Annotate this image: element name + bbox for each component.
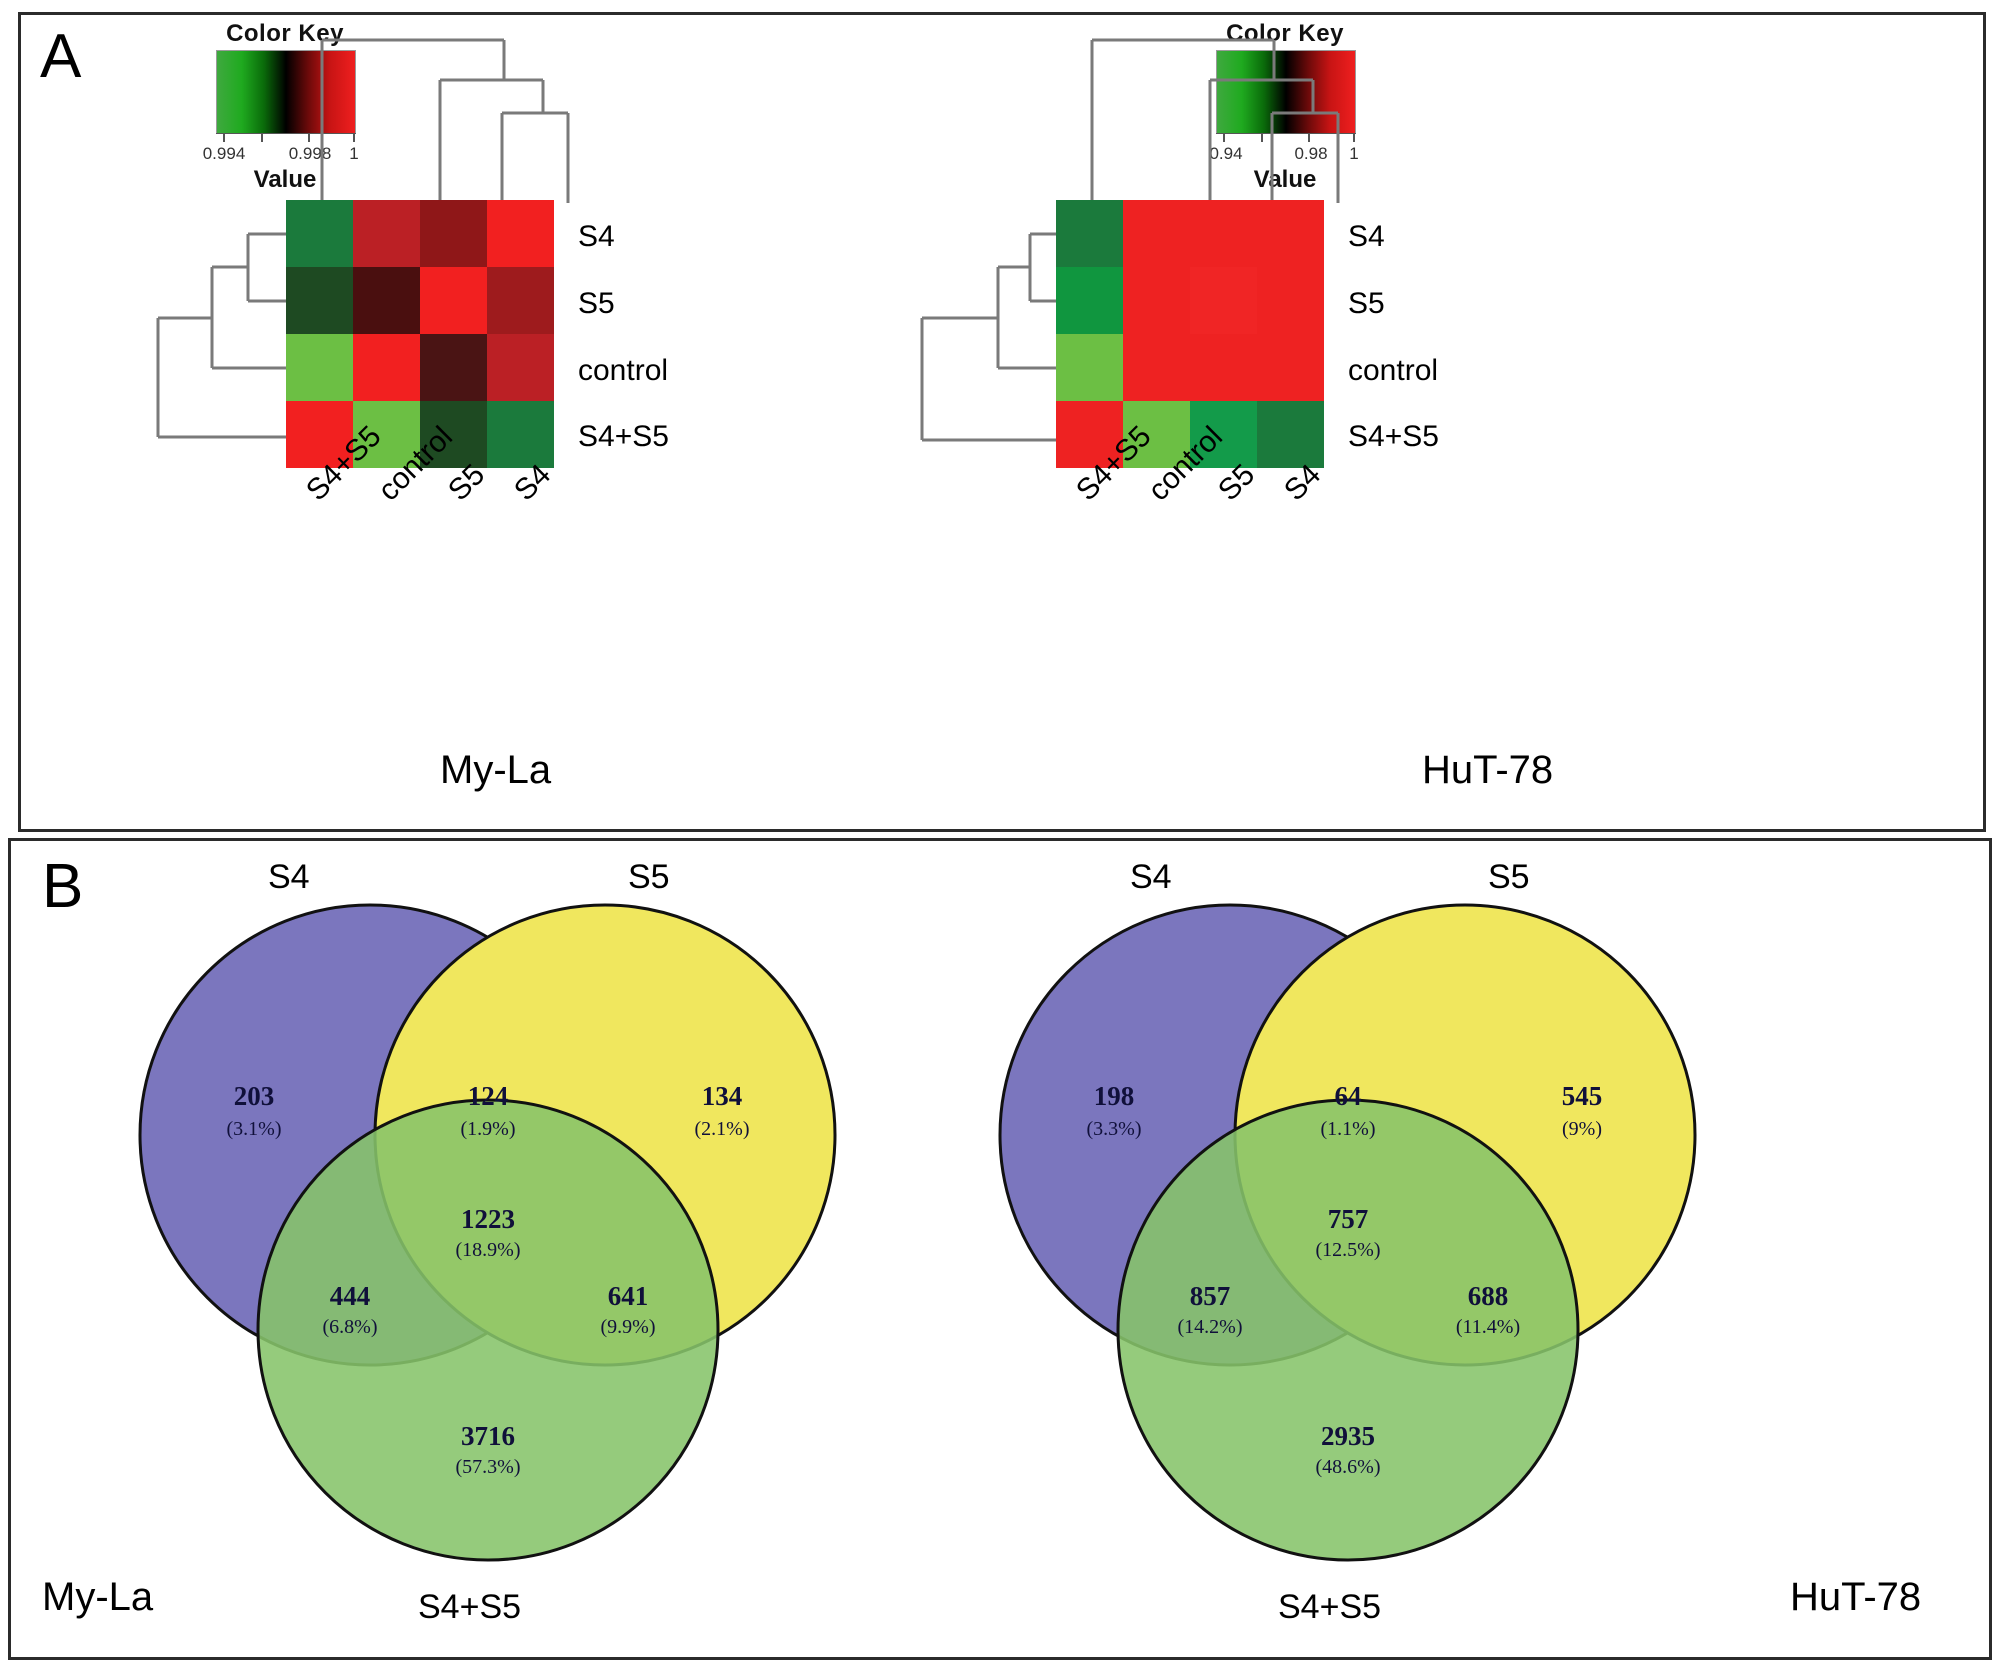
venn-my-la-pct-s4s5-only: (57.3%): [456, 1456, 521, 1478]
heatmap-cell-S5-S4: [1257, 267, 1324, 334]
heatmap-cell-S4-S4: [1257, 200, 1324, 267]
heatmap-row-label-hut-78-0: S4: [1348, 220, 1385, 254]
panel-a-letter: A: [40, 26, 81, 88]
heatmap-row-label-hut-78-3: S4+S5: [1348, 420, 1439, 454]
heatmap-title-my-la: My-La: [440, 748, 551, 793]
venn-hut-78-count-s5-s4s5: 688: [1468, 1281, 1509, 1311]
venn-my-la-pct-s5-s4s5: (9.9%): [601, 1316, 656, 1338]
heatmap-hut-78: [1056, 200, 1324, 468]
venn-hut-78-pct-s4-s4s5: (14.2%): [1178, 1316, 1243, 1338]
heatmap-cell-control-S4+S5: [286, 334, 353, 401]
heatmap-cell-S4+S5-S4: [1257, 401, 1324, 468]
color-key-tick: [223, 133, 225, 142]
heatmap-cell-control-S5: [420, 334, 487, 401]
venn-my-la-count-all-three: 1223: [461, 1204, 515, 1234]
venn-my-la-count-s4s5-only: 3716: [461, 1421, 515, 1451]
heatmap-cell-S4-control: [353, 200, 420, 267]
venn-hut-78-pct-s5-s4s5: (11.4%): [1456, 1316, 1520, 1338]
venn-diagram-my-la: 203 (3.1%) 124 (1.9%) 134 (2.1%) 444 (6.…: [100, 890, 860, 1580]
heatmap-row-label-my-la-2: control: [578, 354, 668, 388]
venn-my-la-pct-s4-s4s5: (6.8%): [323, 1316, 378, 1338]
color-key-tick-label: 1: [1349, 144, 1358, 164]
venn-hut-78-count-s4-s4s5: 857: [1190, 1281, 1231, 1311]
heatmap-cell-S4-S5: [420, 200, 487, 267]
heatmap-cell-S5-S4+S5: [1056, 267, 1123, 334]
venn-my-la-count-s5-s4s5: 641: [608, 1281, 649, 1311]
heatmap-cell-S4-S4+S5: [286, 200, 353, 267]
venn-hut-78-count-s4-only: 198: [1094, 1081, 1135, 1111]
venn-my-la-count-s4-s5: 124: [468, 1081, 509, 1111]
heatmap-row-label-hut-78-1: S5: [1348, 287, 1385, 321]
heatmap-cell-control-S4: [1257, 334, 1324, 401]
panel-b-letter: B: [42, 856, 83, 918]
heatmap-cell-S4-S4+S5: [1056, 200, 1123, 267]
venn-hut-78-pct-all-three: (12.5%): [1316, 1239, 1381, 1261]
heatmap-cell-S4-control: [1123, 200, 1190, 267]
venn-my-la-count-s5-only: 134: [702, 1081, 743, 1111]
venn-my-la-label-s4s5: S4+S5: [418, 1588, 521, 1627]
column-dendrogram-hut-78: [1050, 18, 1350, 203]
heatmap-cell-S5-S4+S5: [286, 267, 353, 334]
venn-hut-78-count-s5-only: 545: [1562, 1081, 1603, 1111]
heatmap-cell-S4+S5-S4: [487, 401, 554, 468]
heatmap-row-label-my-la-3: S4+S5: [578, 420, 669, 454]
heatmap-title-hut-78: HuT-78: [1422, 748, 1553, 793]
venn-my-la-pct-s4-s5: (1.9%): [461, 1118, 516, 1140]
heatmap-cell-control-S4: [487, 334, 554, 401]
venn-my-la-pct-s5-only: (2.1%): [695, 1118, 750, 1140]
venn-title-my-la: My-La: [42, 1575, 153, 1620]
row-dendrogram-hut-78: [910, 200, 1058, 470]
row-dendrogram-my-la: [140, 200, 288, 470]
venn-hut-78-pct-s5-only: (9%): [1562, 1118, 1602, 1140]
venn-diagram-hut-78: 198 (3.3%) 64 (1.1%) 545 (9%) 857 (14.2%…: [960, 890, 1720, 1580]
color-key-tick: [1353, 133, 1355, 142]
venn-title-hut-78: HuT-78: [1790, 1575, 1921, 1620]
venn-hut-78-label-s4s5: S4+S5: [1278, 1588, 1381, 1627]
column-dendrogram-my-la: [280, 18, 580, 203]
heatmap-cell-control-control: [353, 334, 420, 401]
heatmap-cell-control-control: [1123, 334, 1190, 401]
heatmap-cell-S4-S4: [487, 200, 554, 267]
color-key-tick: [261, 133, 263, 142]
heatmap-my-la: [286, 200, 554, 468]
venn-hut-78-pct-s4s5-only: (48.6%): [1316, 1456, 1381, 1478]
heatmap-cell-S5-control: [1123, 267, 1190, 334]
heatmap-cell-S5-S5: [1190, 267, 1257, 334]
heatmap-cell-control-S5: [1190, 334, 1257, 401]
venn-hut-78-count-s4-s5: 64: [1335, 1081, 1362, 1111]
heatmap-cell-S4-S5: [1190, 200, 1257, 267]
venn-my-la-pct-s4-only: (3.1%): [227, 1118, 282, 1140]
venn-my-la-count-s4-only: 203: [234, 1081, 275, 1111]
heatmap-row-label-my-la-0: S4: [578, 220, 615, 254]
heatmap-row-label-hut-78-2: control: [1348, 354, 1438, 388]
color-key-tick-label: 0.994: [203, 144, 246, 164]
heatmap-cell-S5-S5: [420, 267, 487, 334]
venn-hut-78-count-s4s5-only: 2935: [1321, 1421, 1375, 1451]
heatmap-cell-control-S4+S5: [1056, 334, 1123, 401]
figure-root: A Color Key 0.994 0.998 1 Value: [0, 0, 2000, 1670]
heatmap-row-label-my-la-1: S5: [578, 287, 615, 321]
venn-hut-78-count-all-three: 757: [1328, 1204, 1369, 1234]
venn-my-la-pct-all-three: (18.9%): [456, 1239, 521, 1261]
venn-hut-78-pct-s4-only: (3.3%): [1087, 1118, 1142, 1140]
venn-hut-78-pct-s4-s5: (1.1%): [1321, 1118, 1376, 1140]
heatmap-cell-S5-S4: [487, 267, 554, 334]
venn-my-la-count-s4-s4s5: 444: [330, 1281, 371, 1311]
heatmap-cell-S5-control: [353, 267, 420, 334]
